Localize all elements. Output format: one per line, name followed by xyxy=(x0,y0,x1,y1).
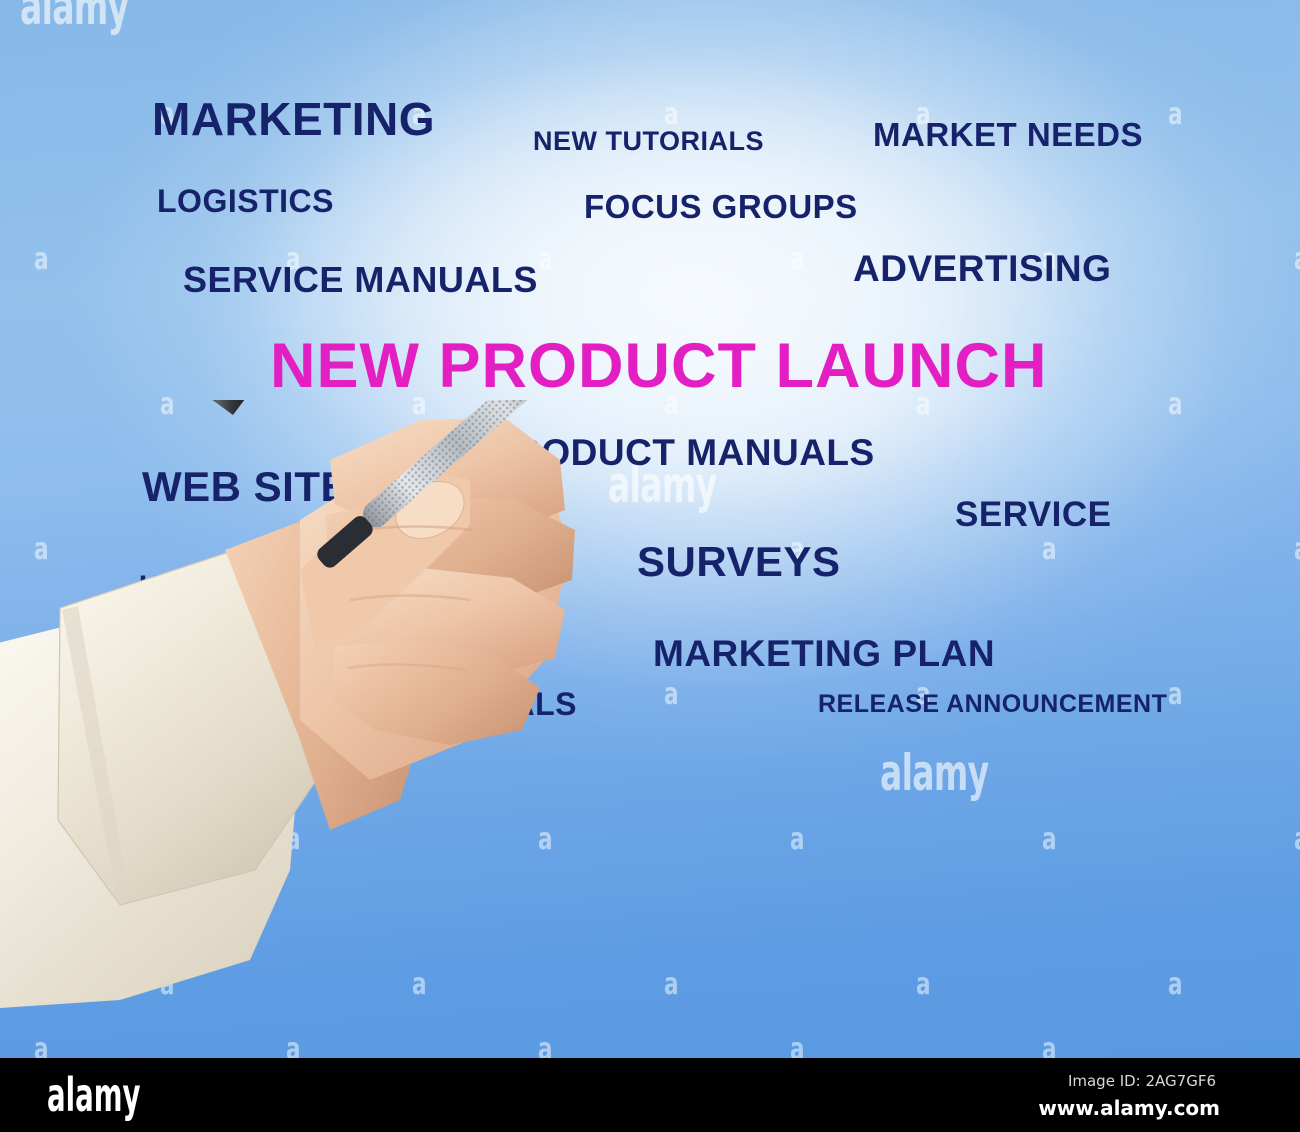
cloud-word: ADVERTISING xyxy=(853,248,1111,290)
cloud-word: LOGISTICS xyxy=(157,183,334,220)
image-id-label: Image ID: 2AG7GF6 xyxy=(1068,1072,1216,1090)
cloud-word: MARKETING PLAN xyxy=(653,633,995,675)
cloud-word: MARKETING xyxy=(152,92,435,146)
alamy-logo: alamy xyxy=(47,1072,140,1118)
cloud-word: MARKET NEEDS xyxy=(873,116,1143,154)
cloud-word: WEB SITE xyxy=(142,463,349,511)
cloud-word: TUTORIALS xyxy=(390,686,577,723)
cloud-word: RELEASE ANNOUNCEMENT xyxy=(818,690,1167,719)
screenshot-root: MARKETINGNEW TUTORIALSMARKET NEEDSLOGIST… xyxy=(0,0,1300,1132)
cloud-word: SURVEYS xyxy=(637,538,840,586)
cloud-word: SERVICE MANUALS xyxy=(183,259,538,301)
cloud-word: NEW TUTORIALS xyxy=(533,126,764,157)
cloud-word: SERVICE xyxy=(955,495,1112,535)
alamy-url: www.alamy.com xyxy=(1038,1096,1220,1120)
cloud-word: PRODUCT MANUALS xyxy=(489,432,875,474)
alamy-footer-bar: alamy Image ID: 2AG7GF6 www.alamy.com xyxy=(0,1058,1300,1132)
headline-new-product-launch: NEW PRODUCT LAUNCH xyxy=(270,330,1047,402)
cloud-word: FOCUS GROUPS xyxy=(584,188,858,226)
cloud-word: UPDATE SOFTWARE xyxy=(139,570,446,604)
